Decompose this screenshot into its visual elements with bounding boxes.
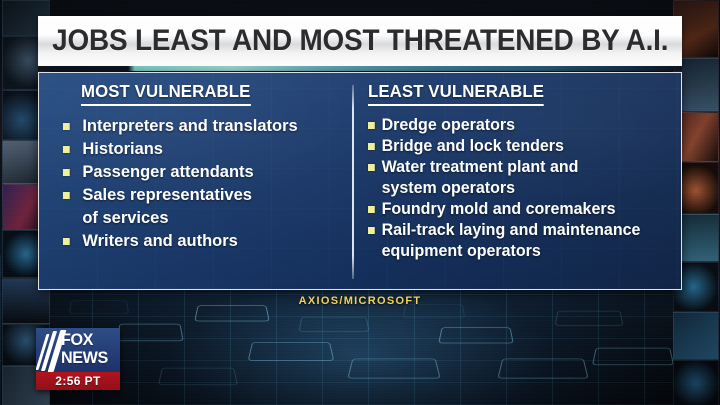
list-item-label: Foundry mold and coremakers	[382, 199, 672, 220]
bullet-square-icon	[368, 122, 375, 129]
job-list-most-vulnerable: Interpreters and translators Historians …	[61, 115, 350, 252]
list-item: Historians	[61, 138, 341, 160]
list-item: Passenger attendants	[61, 161, 341, 183]
list-item-continuation: system operators	[368, 178, 672, 199]
list-item-label: Dredge operators	[382, 115, 672, 136]
list-item-label: Passenger attendants	[82, 161, 341, 183]
column-heading-right: LEAST VULNERABLE	[368, 83, 544, 106]
list-item: Rail-track laying and maintenance	[368, 220, 672, 241]
list-item-label: Historians	[82, 138, 341, 160]
list-item-label: Water treatment plant and	[382, 157, 672, 178]
content-panel: MOST VULNERABLE Interpreters and transla…	[38, 72, 682, 290]
bullet-square-icon	[63, 123, 70, 130]
list-item-label-continued: equipment operators	[382, 241, 672, 262]
bullet-square-icon	[368, 206, 375, 213]
list-item-label: Rail-track laying and maintenance	[382, 220, 672, 241]
bullet-square-icon	[368, 227, 375, 234]
fox-word-line1: FOX	[61, 331, 108, 349]
bullet-square-icon	[63, 169, 70, 176]
column-heading-left: MOST VULNERABLE	[81, 83, 250, 106]
list-item-label: Sales representatives	[82, 184, 341, 206]
list-item-continuation: of services	[61, 207, 341, 229]
list-item-label-continued: of services	[82, 207, 341, 229]
network-logo-bug: FOX NEWS 2:56 PT	[36, 328, 120, 390]
graphic-title: JOBS LEAST AND MOST THREATENED BY A.I.	[52, 26, 668, 56]
list-item-label-continued: system operators	[382, 178, 672, 199]
list-item: Bridge and lock tenders	[368, 136, 672, 157]
bullet-square-icon	[63, 192, 70, 199]
bullet-square-icon	[368, 164, 375, 171]
job-list-least-vulnerable: Dredge operators Bridge and lock tenders…	[368, 115, 681, 262]
source-attribution: AXIOS/MICROSOFT	[0, 295, 720, 307]
bullet-square-icon	[63, 238, 70, 245]
list-item: Interpreters and translators	[61, 115, 341, 137]
list-item-label: Interpreters and translators	[82, 115, 341, 137]
title-bar: JOBS LEAST AND MOST THREATENED BY A.I.	[38, 16, 682, 66]
list-item-label: Writers and authors	[82, 230, 341, 252]
broadcast-time: 2:56 PT	[36, 372, 120, 390]
fox-news-logo: FOX NEWS	[36, 328, 120, 372]
title-accent-strip	[38, 66, 682, 71]
list-item: Sales representatives	[61, 184, 341, 206]
bullet-square-icon	[63, 146, 70, 153]
column-divider	[352, 85, 354, 279]
fox-news-wordmark: FOX NEWS	[61, 331, 108, 367]
fox-word-line2: NEWS	[61, 349, 108, 367]
list-item: Writers and authors	[61, 230, 341, 252]
list-item-continuation: equipment operators	[368, 241, 672, 262]
list-item: Dredge operators	[368, 115, 672, 136]
broadcast-screen: JOBS LEAST AND MOST THREATENED BY A.I. M…	[0, 0, 720, 405]
list-item: Water treatment plant and	[368, 157, 672, 178]
list-item-label: Bridge and lock tenders	[382, 136, 672, 157]
list-item: Foundry mold and coremakers	[368, 199, 672, 220]
column-least-vulnerable: LEAST VULNERABLE Dredge operators Bridge…	[350, 73, 681, 289]
column-most-vulnerable: MOST VULNERABLE Interpreters and transla…	[39, 73, 350, 289]
bullet-square-icon	[368, 143, 375, 150]
